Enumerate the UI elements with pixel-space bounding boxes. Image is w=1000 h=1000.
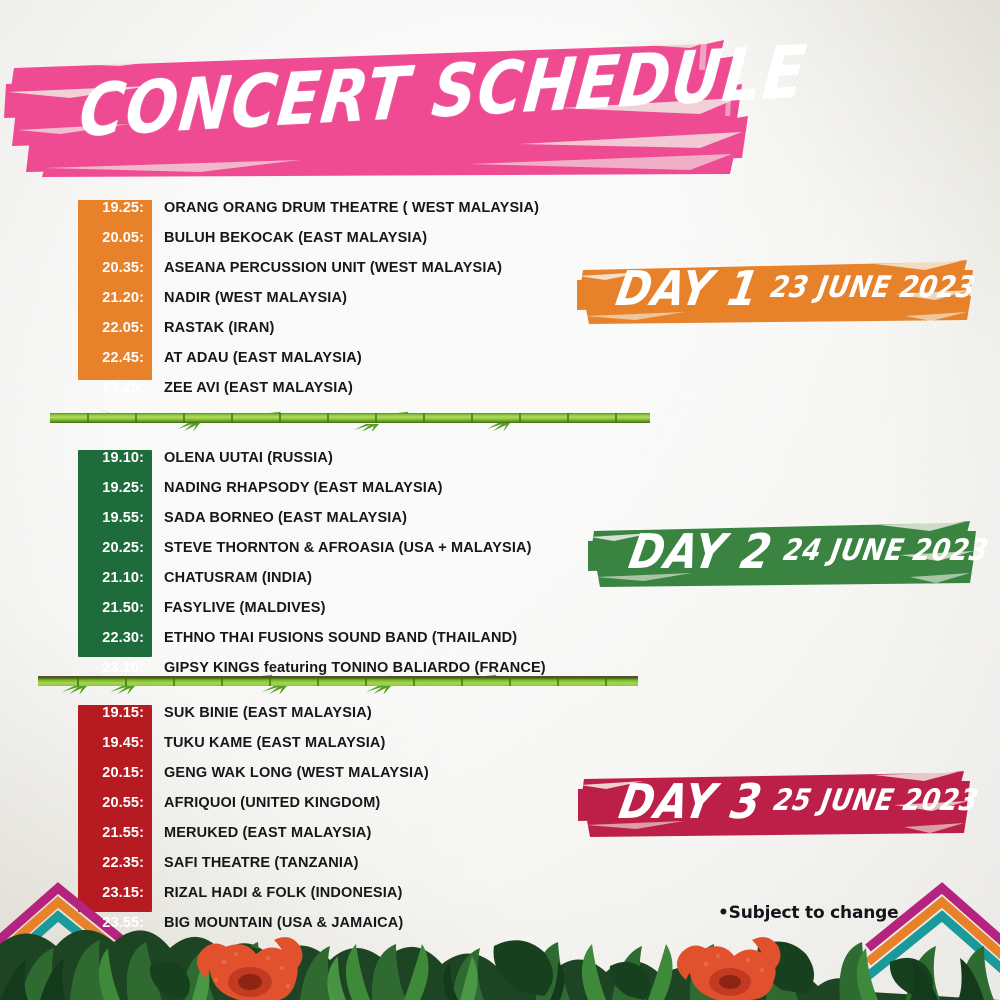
- schedule-row: 22.45:AT ADAU (EAST MALAYSIA): [78, 350, 539, 380]
- schedule-artist: OLENA UUTAI (RUSSIA): [152, 450, 333, 466]
- schedule-row: 21.50:FASYLIVE (MALDIVES): [78, 600, 546, 630]
- schedule-artist: ETHNO THAI FUSIONS SOUND BAND (THAILAND): [152, 630, 517, 646]
- schedule-row: 19.25:NADING RHAPSODY (EAST MALAYSIA): [78, 480, 546, 510]
- schedule-row: 19.25:ORANG ORANG DRUM THEATRE ( WEST MA…: [78, 200, 539, 230]
- schedule-artist: ZEE AVI (EAST MALAYSIA): [152, 380, 353, 396]
- title-banner: CONCERT SCHEDULE: [0, 22, 760, 177]
- schedule-row: 20.05:BULUH BEKOCAK (EAST MALAYSIA): [78, 230, 539, 260]
- day3-banner-date: 25 JUNE 2023: [771, 784, 981, 818]
- schedule-time: 20.05:: [78, 230, 152, 246]
- schedule-time: 20.15:: [78, 765, 152, 781]
- schedule-artist: TUKU KAME (EAST MALAYSIA): [152, 735, 386, 751]
- day1-banner-label: DAY 1: [612, 261, 764, 317]
- schedule-time: 19.45:: [78, 735, 152, 751]
- schedule-row: 19.45:TUKU KAME (EAST MALAYSIA): [78, 735, 429, 765]
- schedule-artist: MERUKED (EAST MALAYSIA): [152, 825, 372, 841]
- schedule-time: 20.55:: [78, 795, 152, 811]
- schedule-artist: NADING RHAPSODY (EAST MALAYSIA): [152, 480, 443, 496]
- bamboo-divider-1: [50, 405, 650, 431]
- schedule-time: 19.25:: [78, 200, 152, 216]
- day1-banner: DAY 1 23 JUNE 2023: [575, 250, 975, 328]
- day2-banner-date: 24 JUNE 2023: [781, 534, 991, 568]
- schedule-time: 22.35:: [78, 855, 152, 871]
- schedule-artist: FASYLIVE (MALDIVES): [152, 600, 326, 616]
- day3-banner: DAY 3 25 JUNE 2023: [578, 763, 973, 841]
- schedule-artist: STEVE THORNTON & AFROASIA (USA + MALAYSI…: [152, 540, 532, 556]
- schedule-time: 23.25:: [78, 380, 152, 396]
- schedule-time: 21.50:: [78, 600, 152, 616]
- schedule-row: 21.20:NADIR (WEST MALAYSIA): [78, 290, 539, 320]
- schedule-time: 19.10:: [78, 450, 152, 466]
- day2-listing: 19.10:OLENA UUTAI (RUSSIA)19.25:NADING R…: [78, 450, 546, 690]
- schedule-artist: AT ADAU (EAST MALAYSIA): [152, 350, 362, 366]
- schedule-time: 20.35:: [78, 260, 152, 276]
- schedule-time: 23.15:: [78, 885, 152, 901]
- day2-banner: DAY 2 24 JUNE 2023: [588, 513, 978, 591]
- schedule-time: 22.30:: [78, 630, 152, 646]
- schedule-time: 21.55:: [78, 825, 152, 841]
- day1-banner-date: 23 JUNE 2023: [768, 271, 978, 305]
- schedule-row: 20.55:AFRIQUOI (UNITED KINGDOM): [78, 795, 429, 825]
- schedule-artist: GENG WAK LONG (WEST MALAYSIA): [152, 765, 429, 781]
- schedule-artist: SUK BINIE (EAST MALAYSIA): [152, 705, 372, 721]
- schedule-row: 19.10:OLENA UUTAI (RUSSIA): [78, 450, 546, 480]
- schedule-artist: SAFI THEATRE (TANZANIA): [152, 855, 359, 871]
- schedule-time: 19.15:: [78, 705, 152, 721]
- schedule-time: 22.05:: [78, 320, 152, 336]
- schedule-time: 19.25:: [78, 480, 152, 496]
- schedule-time: 20.25:: [78, 540, 152, 556]
- schedule-artist: CHATUSRAM (INDIA): [152, 570, 312, 586]
- day2-rows: 19.10:OLENA UUTAI (RUSSIA)19.25:NADING R…: [78, 450, 546, 690]
- schedule-artist: RASTAK (IRAN): [152, 320, 274, 336]
- day3-banner-label: DAY 3: [615, 774, 767, 830]
- schedule-row: 20.25:STEVE THORNTON & AFROASIA (USA + M…: [78, 540, 546, 570]
- schedule-time: 23.55:: [78, 915, 152, 931]
- schedule-artist: SADA BORNEO (EAST MALAYSIA): [152, 510, 407, 526]
- schedule-time: 21.20:: [78, 290, 152, 306]
- schedule-row: 21.55:MERUKED (EAST MALAYSIA): [78, 825, 429, 855]
- day-block-1: 19.25:ORANG ORANG DRUM THEATRE ( WEST MA…: [0, 200, 1000, 390]
- schedule-row: 20.15:GENG WAK LONG (WEST MALAYSIA): [78, 765, 429, 795]
- day1-listing: 19.25:ORANG ORANG DRUM THEATRE ( WEST MA…: [78, 200, 539, 410]
- day2-banner-label: DAY 2: [625, 524, 777, 580]
- bamboo-stalk-1: [50, 405, 650, 431]
- schedule-row: 19.15:SUK BINIE (EAST MALAYSIA): [78, 705, 429, 735]
- schedule-row: 20.35:ASEANA PERCUSSION UNIT (WEST MALAY…: [78, 260, 539, 290]
- schedule-row: 22.05:RASTAK (IRAN): [78, 320, 539, 350]
- schedule-time: 19.55:: [78, 510, 152, 526]
- schedule-artist: AFRIQUOI (UNITED KINGDOM): [152, 795, 380, 811]
- schedule-row: 19.55:SADA BORNEO (EAST MALAYSIA): [78, 510, 546, 540]
- day1-rows: 19.25:ORANG ORANG DRUM THEATRE ( WEST MA…: [78, 200, 539, 410]
- schedule-artist: ORANG ORANG DRUM THEATRE ( WEST MALAYSIA…: [152, 200, 539, 216]
- schedule-time: 23.10:: [78, 660, 152, 676]
- schedule-artist: BULUH BEKOCAK (EAST MALAYSIA): [152, 230, 427, 246]
- schedule-artist: NADIR (WEST MALAYSIA): [152, 290, 347, 306]
- day-block-2: 19.10:OLENA UUTAI (RUSSIA)19.25:NADING R…: [0, 450, 1000, 665]
- schedule-artist: ASEANA PERCUSSION UNIT (WEST MALAYSIA): [152, 260, 502, 276]
- schedule-row: 22.30:ETHNO THAI FUSIONS SOUND BAND (THA…: [78, 630, 546, 660]
- schedule-time: 22.45:: [78, 350, 152, 366]
- schedule-time: 21.10:: [78, 570, 152, 586]
- schedule-row: 21.10:CHATUSRAM (INDIA): [78, 570, 546, 600]
